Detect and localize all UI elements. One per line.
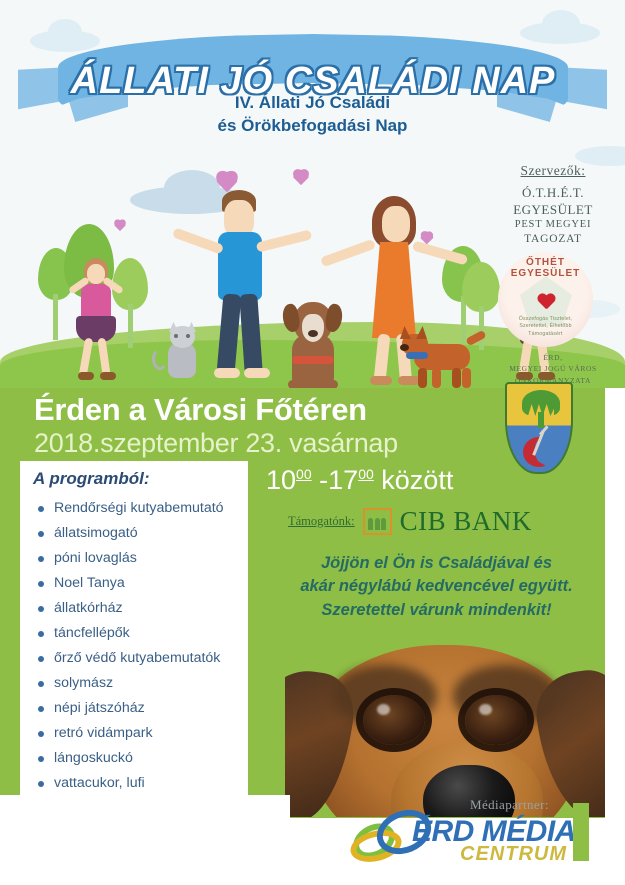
message-line-1: Jöjjön el Ön is Családjával és <box>268 552 605 575</box>
white-right-margin <box>605 388 625 818</box>
location-title: Érden a Városi Főtéren <box>34 392 367 428</box>
erd-media-logo-sub: CENTRUM <box>460 843 567 866</box>
time-start-min: 00 <box>296 466 312 482</box>
city-caption-line-1: ÉRD, <box>490 352 616 363</box>
othet-logo-bottom-text: Összefogás Tisztelet, Szeretettel, Élhet… <box>508 316 583 339</box>
event-time: 1000 -1700 között <box>266 465 453 496</box>
subtitle-line-2: és Örökbefogadási Nap <box>0 115 625 138</box>
othet-association-logo: ŐTHÉT EGYESÜLET Összefogás Tisztelet, Sz… <box>498 252 593 347</box>
program-heading: A programból: <box>33 469 149 489</box>
time-suffix: között <box>381 465 453 495</box>
dog-photograph <box>285 641 605 817</box>
poster-root: ÁLLATI JÓ CSALÁDI NAP IV. Állati Jó Csal… <box>0 0 625 885</box>
list-item: retró vidámpark <box>38 721 253 746</box>
heart-icon <box>290 170 312 189</box>
city-government-caption: ÉRD, MEGYEI JOGÚ VÁROS ÖNKORMÁNYZATA <box>490 352 616 386</box>
list-item: vattacukor, lufi <box>38 771 253 796</box>
organizer-name: Ó.T.H.É.T. EGYESÜLET PEST MEGYEI TAGOZAT <box>492 184 614 247</box>
invitation-message: Jöjjön el Ön is Családjával és akár négy… <box>268 552 605 622</box>
time-start-hour: 10 <box>266 465 296 495</box>
heart-icon <box>537 294 556 311</box>
list-item: állatkórház <box>38 596 253 621</box>
organizer-name-line-4: TAGOZAT <box>492 232 614 247</box>
organizer-name-line-2: EGYESÜLET <box>492 201 614 218</box>
dog-standing-figure <box>398 332 486 390</box>
adult-man-figure <box>200 190 276 390</box>
organizers-label: Szervezők: <box>498 163 608 179</box>
event-date: 2018.szeptember 23. vasárnap <box>34 428 398 459</box>
message-line-2: akár négylábú kedvencével együtt. <box>268 575 605 598</box>
heart-icon <box>112 220 128 234</box>
list-item: állatsimogató <box>38 521 253 546</box>
list-item: Noel Tanya <box>38 571 253 596</box>
list-item: solymász <box>38 671 253 696</box>
dog-sitting-figure <box>278 300 350 390</box>
sponsor-label: Támogatónk: <box>288 514 355 529</box>
banner-subtitle: IV. Állati Jó Családi és Örökbefogadási … <box>0 92 625 138</box>
cib-bank-logo-icon <box>363 508 392 535</box>
sponsor-name: CIB BANK <box>400 506 532 537</box>
othet-logo-arc-text: ŐTHÉT EGYESÜLET <box>498 257 593 279</box>
list-item: lángoskuckó <box>38 746 253 771</box>
subtitle-line-1: IV. Állati Jó Családi <box>0 92 625 115</box>
list-item: őrző védő kutyabemutatók <box>38 646 253 671</box>
organizer-name-line-3: PEST MEGYEI <box>492 218 614 232</box>
cat-figure <box>150 326 210 380</box>
time-end-hour: 17 <box>328 465 358 495</box>
erd-media-centrum-logo: ÉRD MÉDIA CENTRUM <box>350 805 600 871</box>
list-item: póni lovaglás <box>38 546 253 571</box>
time-separator: - <box>319 465 328 495</box>
time-end-min: 00 <box>358 466 374 482</box>
erd-media-green-bar <box>573 803 589 861</box>
erd-coat-of-arms-icon <box>505 382 573 474</box>
message-line-3: Szeretettel várunk mindenkit! <box>268 599 605 622</box>
city-caption-line-2: MEGYEI JOGÚ VÁROS <box>490 363 616 374</box>
list-item: népi játszóház <box>38 696 253 721</box>
child-girl-figure <box>72 258 120 388</box>
list-item: Rendőrségi kutyabemutató <box>38 496 253 521</box>
sponsor-row: Támogatónk: CIB BANK <box>288 504 598 538</box>
list-item: táncfellépők <box>38 621 253 646</box>
organizer-name-line-1: Ó.T.H.É.T. <box>492 184 614 201</box>
